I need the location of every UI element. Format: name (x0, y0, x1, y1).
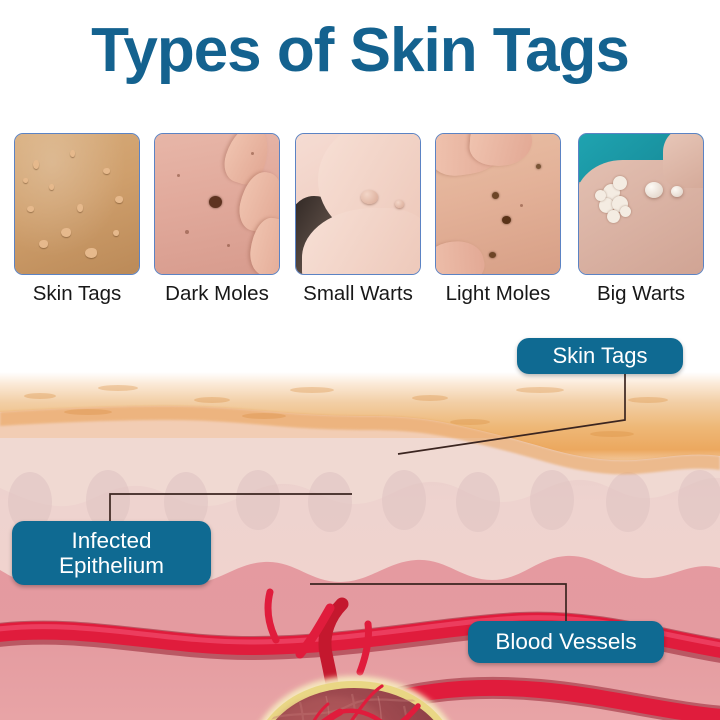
skin-tags-photo[interactable] (14, 133, 140, 275)
small-warts-photo[interactable] (295, 133, 421, 275)
skin-tags-photo-art (15, 134, 139, 274)
gallery-item-label: Skin Tags (14, 282, 140, 306)
dark-moles-photo[interactable] (154, 133, 280, 275)
gallery-item-small-warts[interactable]: Small Warts (295, 133, 421, 306)
gallery-item-dark-moles[interactable]: Dark Moles (154, 133, 280, 306)
callout-badge-blood-vessels[interactable]: Blood Vessels (468, 621, 664, 663)
big-warts-photo-art (579, 134, 703, 274)
light-moles-photo[interactable] (435, 133, 561, 275)
dark-moles-photo-art (155, 134, 279, 274)
gallery-item-label: Light Moles (435, 282, 561, 306)
types-gallery: Skin Tags Dark Moles (0, 133, 720, 313)
callout-badge-infected-epithelium[interactable]: Infected Epithelium (12, 521, 211, 585)
callout-badge-skin-tags[interactable]: Skin Tags (517, 338, 683, 374)
page-title: Types of Skin Tags (0, 18, 720, 83)
infographic-root: Types of Skin Tags (0, 0, 720, 720)
small-warts-photo-art (296, 134, 420, 274)
gallery-item-big-warts[interactable]: Big Warts (578, 133, 704, 306)
gallery-item-label: Dark Moles (154, 282, 280, 306)
big-warts-photo[interactable] (578, 133, 704, 275)
gallery-item-label: Small Warts (295, 282, 421, 306)
gallery-item-label: Big Warts (578, 282, 704, 306)
gallery-item-light-moles[interactable]: Light Moles (435, 133, 561, 306)
gallery-item-skin-tags[interactable]: Skin Tags (14, 133, 140, 306)
light-moles-photo-art (436, 134, 560, 274)
